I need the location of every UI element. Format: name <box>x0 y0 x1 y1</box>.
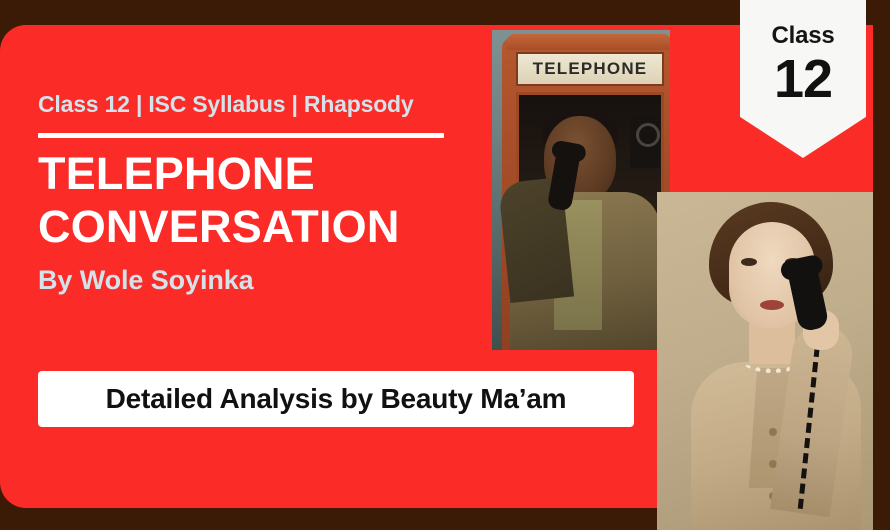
woman-on-phone-photo <box>657 192 873 530</box>
title-divider <box>38 133 444 138</box>
poster-canvas: Class 12 | ISC Syllabus | Rhapsody TELEP… <box>0 0 890 530</box>
page-title: TELEPHONE CONVERSATION <box>38 148 468 253</box>
class-badge-number: 12 <box>774 52 832 106</box>
eyebrow-text: Class 12 | ISC Syllabus | Rhapsody <box>38 91 414 118</box>
booth-crown <box>506 34 670 50</box>
jacket-button <box>769 428 777 436</box>
wall-telephone-icon <box>630 116 660 168</box>
author-byline: By Wole Soyinka <box>38 265 254 296</box>
analysis-banner-label: Detailed Analysis by Beauty Ma’am <box>106 383 567 415</box>
class-badge-word: Class <box>771 22 834 50</box>
booth-sign-text: TELEPHONE <box>533 59 648 79</box>
telephone-booth-photo: TELEPHONE <box>492 30 670 350</box>
analysis-banner: Detailed Analysis by Beauty Ma’am <box>38 371 634 427</box>
woman-left-eye <box>741 258 757 266</box>
booth-sign: TELEPHONE <box>516 52 664 86</box>
woman-lips <box>760 300 784 310</box>
